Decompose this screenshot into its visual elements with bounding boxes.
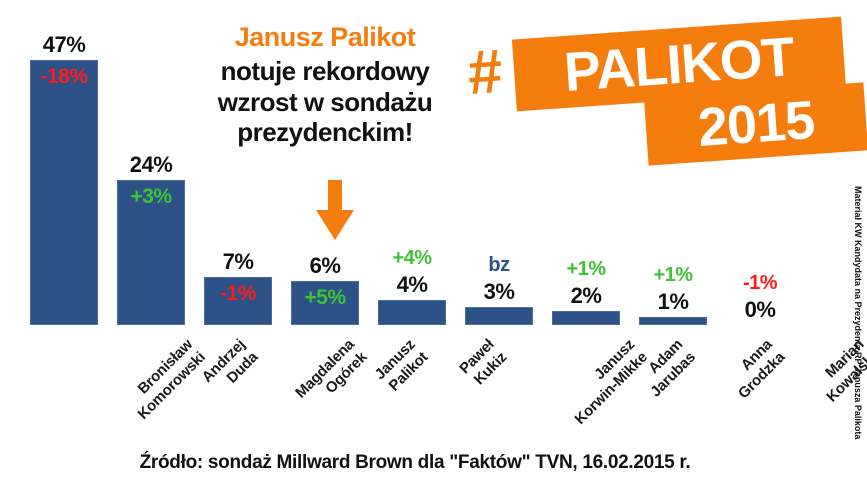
bar-group: 3%bz (465, 307, 533, 325)
bar-value-label: 24% (117, 152, 185, 178)
bar-value-label: 2% (552, 283, 620, 309)
sponsor-credit-text: Materiał KW Kandydata na Prezydenta RP J… (853, 186, 863, 439)
candidate-label: JanuszKorwin-Mikke (559, 336, 652, 429)
bar-change-label: +3% (118, 185, 184, 209)
bar-value-label: 3% (465, 279, 533, 305)
bar-rect (465, 307, 533, 325)
headline-line-3: prezydenckim! (175, 117, 475, 148)
bar-group: -18%47% (30, 60, 98, 325)
source-note: Źródło: sondaż Millward Brown dla "Faktó… (0, 452, 830, 474)
candidate-label: MagdalenaOgórek (292, 336, 371, 415)
candidate-label: AnnaGrodzka (722, 336, 789, 403)
bar-value-label: 0% (726, 297, 794, 323)
candidate-label: AdamJarubas (634, 336, 700, 402)
bar-rect (552, 311, 620, 325)
bar-value-label: 1% (639, 289, 707, 315)
bar-value-label: 6% (291, 253, 359, 279)
headline-line-2: wzrost w sondażu (175, 87, 475, 118)
bar-value-label: 47% (30, 32, 98, 58)
sponsor-credit: Materiał KW Kandydata na Prezydenta RP J… (849, 186, 865, 386)
bar-group: 2%+1% (552, 311, 620, 325)
bar-change-label: +1% (639, 264, 707, 287)
bar-group: 4%+4% (378, 300, 446, 325)
palikot-2015-logo: # PALIKOT 2015 (468, 18, 866, 178)
headline: Janusz Palikot notuje rekordowy wzrost w… (175, 22, 475, 148)
bar-rect: -18% (30, 60, 98, 325)
bar-change-label: bz (465, 254, 533, 277)
down-arrow-icon (313, 180, 357, 242)
bar-change-label: -1% (726, 272, 794, 295)
bar-value-label: 4% (378, 272, 446, 298)
bar-rect (639, 317, 707, 325)
candidate-label: AndrzejDuda (199, 336, 263, 400)
bar-value-label: 7% (204, 249, 272, 275)
bar-change-label: -1% (205, 282, 271, 306)
bar-group: +3%24% (117, 180, 185, 325)
candidate-label: PawełKukiz (456, 336, 511, 391)
bar-change-label: +4% (378, 247, 446, 270)
bar-rect: +3% (117, 180, 185, 325)
bar-change-label: +5% (292, 286, 358, 310)
bar-group: -1%7% (204, 277, 272, 325)
candidate-label: BronisławKomorowski (122, 336, 210, 424)
headline-line-1: notuje rekordowy (175, 56, 475, 87)
bar-rect (378, 300, 446, 325)
infographic-root: -18%47%+3%24%-1%7%+5%6%4%+4%3%bz2%+1%1%+… (0, 0, 867, 500)
bar-group: +5%6% (291, 281, 359, 325)
logo-year: 2015 (644, 82, 867, 165)
hash-icon: # (466, 41, 505, 105)
bar-rect: -1% (204, 277, 272, 325)
candidate-label: JanuszPalikot (372, 336, 433, 397)
headline-name: Janusz Palikot (175, 22, 475, 54)
bar-rect: +5% (291, 281, 359, 325)
bar-change-label: -18% (31, 65, 97, 89)
bar-group: 1%+1% (639, 317, 707, 325)
bar-change-label: +1% (552, 258, 620, 281)
